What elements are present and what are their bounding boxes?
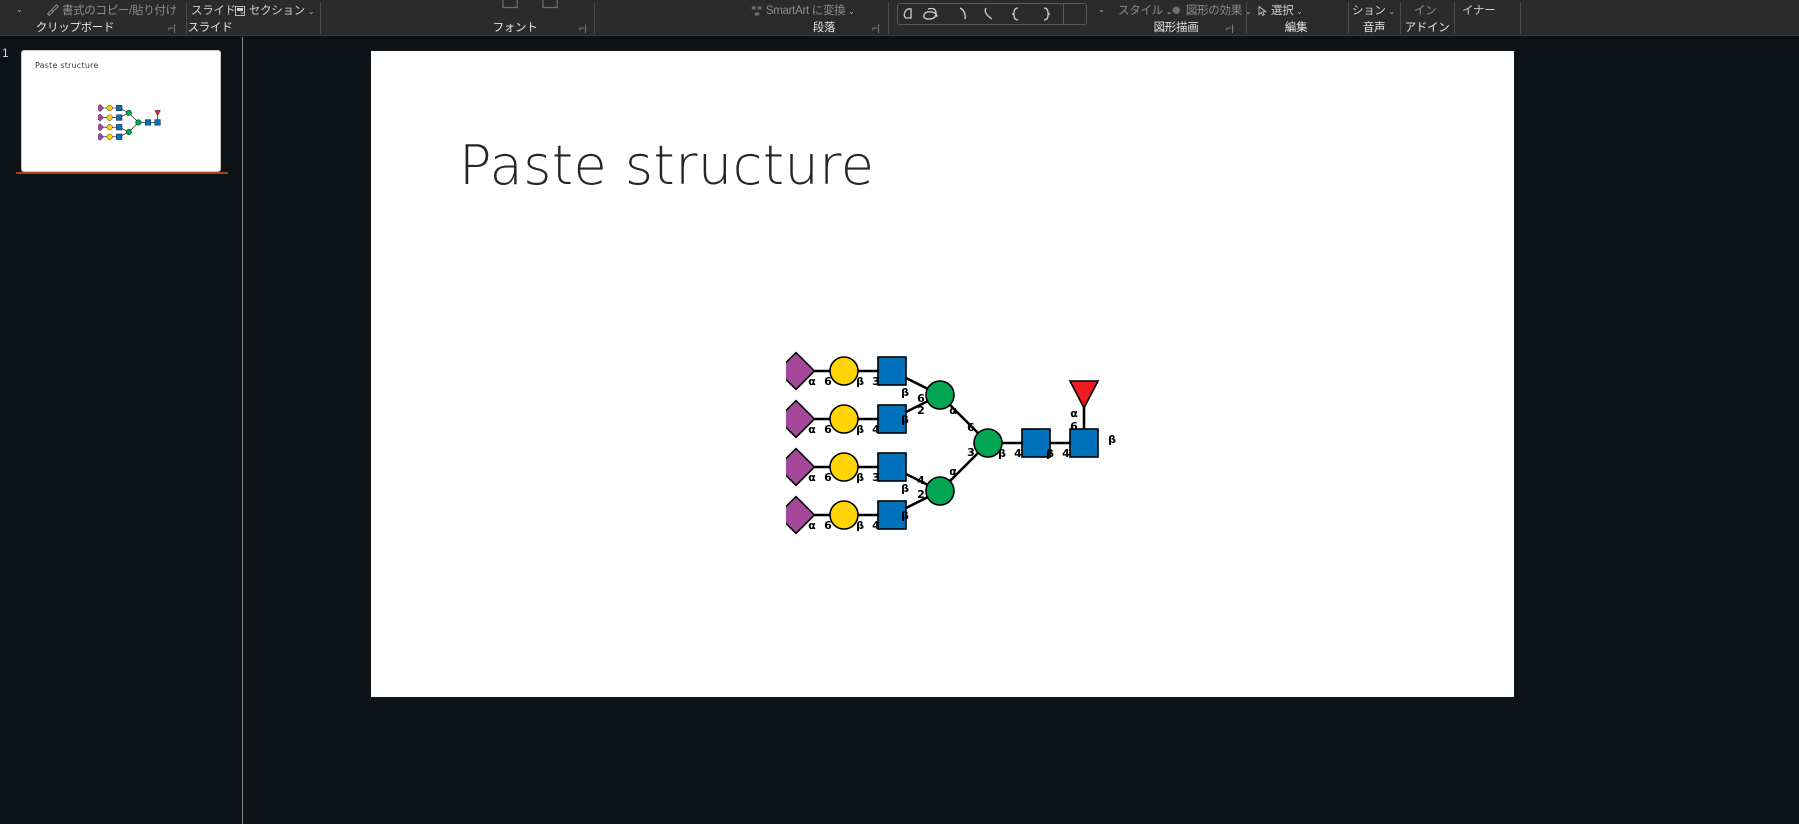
slide-thumbnail-1[interactable]: Paste structure xyxy=(21,50,221,172)
residue-fuc xyxy=(1070,381,1098,408)
ribbon: 書式のコピー/貼り付け ⌄ クリップボード ⌐| スライド ⌄ セクション ⌄ … xyxy=(0,0,1799,36)
ribbon-group-slides: スライド ⌄ セクション ⌄ スライド xyxy=(188,0,316,36)
chevron-down-icon: ⌄ xyxy=(1098,5,1104,14)
ribbon-separator-6 xyxy=(1348,2,1349,34)
slide-stage: Paste structure xyxy=(243,37,1799,718)
ribbon-group-label-editing: 編集 xyxy=(1248,19,1344,35)
svg-text:α: α xyxy=(808,423,816,436)
thumbnail-title-text: Paste structure xyxy=(35,61,98,70)
ribbon-group-voice: ション ⌄ 音声 xyxy=(1350,0,1398,36)
svg-text:β: β xyxy=(856,519,864,532)
ribbon-group-paragraph: SmartArt に変換 ⌄ 段落 ⌐| xyxy=(596,0,884,36)
addin-button[interactable]: イン xyxy=(1414,2,1436,18)
ribbon-group-designer: イナー xyxy=(1456,0,1516,36)
svg-text:6: 6 xyxy=(967,421,975,434)
page-title[interactable]: Paste structure xyxy=(459,134,874,197)
thumbnail-selection-underline xyxy=(16,172,228,174)
residue-gal xyxy=(830,501,858,529)
svg-text:6: 6 xyxy=(824,519,832,532)
clipboard-more-caret[interactable]: ⌄ xyxy=(16,3,22,15)
paragraph-dialog-launcher[interactable]: ⌐| xyxy=(872,23,880,33)
ribbon-group-label-clipboard: クリップボード xyxy=(0,19,166,35)
format-painter-button[interactable]: 書式のコピー/貼り付け xyxy=(46,2,177,18)
convert-to-smartart-label: SmartArt に変換 xyxy=(766,5,845,17)
residue-gal xyxy=(830,357,858,385)
residue-man xyxy=(926,477,954,505)
svg-text:β: β xyxy=(856,471,864,484)
shape-effects-label: 図形の効果 xyxy=(1186,5,1242,17)
svg-text:6: 6 xyxy=(824,423,832,436)
ribbon-group-label-addins: アドイン xyxy=(1402,19,1452,35)
highlight-icon xyxy=(540,0,562,12)
section-icon xyxy=(234,5,246,17)
bottom-pane-divider xyxy=(242,718,243,824)
ribbon-group-label-slides: スライド xyxy=(146,19,274,35)
residue-gal xyxy=(830,453,858,481)
svg-text:β: β xyxy=(901,386,909,399)
chevron-down-icon: ⌄ xyxy=(1296,7,1302,16)
dictate-label: ション xyxy=(1352,5,1386,17)
section-button[interactable]: セクション ⌄ xyxy=(234,2,314,18)
thumbnail-glycan-diagram xyxy=(98,99,166,147)
convert-to-smartart-button[interactable]: SmartArt に変換 ⌄ xyxy=(751,2,855,18)
dictate-button[interactable]: ション ⌄ xyxy=(1352,2,1395,18)
cursor-arrow-icon xyxy=(1256,5,1268,17)
svg-text:β: β xyxy=(1046,447,1054,460)
paintbrush-icon xyxy=(46,4,59,17)
designer-button[interactable]: イナー xyxy=(1462,2,1495,18)
svg-text:β: β xyxy=(901,509,909,522)
ribbon-group-editing: 選択 ⌄ 編集 xyxy=(1248,0,1344,36)
svg-text:α: α xyxy=(808,375,816,388)
svg-text:3: 3 xyxy=(967,446,975,459)
chevron-down-icon: ⌄ xyxy=(848,7,854,16)
ribbon-group-font: フォント ⌐| xyxy=(322,0,572,36)
designer-label: イナー xyxy=(1462,5,1495,17)
select-label: 選択 xyxy=(1271,5,1293,17)
shape-styles-label: スタイル xyxy=(1118,5,1163,17)
ribbon-separator-3 xyxy=(594,2,595,34)
shape-effects-icon xyxy=(1171,5,1183,17)
select-button[interactable]: 選択 ⌄ xyxy=(1256,2,1303,18)
ribbon-separator-4 xyxy=(888,2,889,34)
smartart-icon xyxy=(751,5,763,17)
ribbon-separator-5 xyxy=(1246,2,1247,34)
chevron-down-icon: ⌄ xyxy=(1389,7,1395,16)
chevron-down-icon: ⌄ xyxy=(16,5,22,14)
svg-text:β: β xyxy=(998,447,1006,460)
residue-glcnac xyxy=(1070,429,1098,457)
residue-gal xyxy=(830,405,858,433)
svg-text:3: 3 xyxy=(872,471,880,484)
bottom-area xyxy=(0,718,1799,824)
shape-styles-button[interactable]: スタイル ⌄ xyxy=(1118,2,1172,18)
slide-canvas[interactable]: Paste structure xyxy=(371,51,1514,697)
font-color-icon xyxy=(500,0,522,12)
glycan-structure-diagram[interactable]: α6 β3 α6 β4 α6 β3 α6 β4 β6 β2 β4 β2 α6 α… xyxy=(786,351,1126,541)
ribbon-separator-9 xyxy=(1520,2,1521,34)
residue-glcnac xyxy=(878,357,906,385)
svg-text:α: α xyxy=(949,404,957,417)
ribbon-separator-8 xyxy=(1454,2,1455,34)
ribbon-separator-7 xyxy=(1400,2,1401,34)
svg-text:β: β xyxy=(856,423,864,436)
format-painter-label: 書式のコピー/貼り付け xyxy=(62,5,177,17)
svg-text:6: 6 xyxy=(1070,420,1078,433)
svg-text:β: β xyxy=(901,482,909,495)
svg-text:β: β xyxy=(901,413,909,426)
residue-glcnac xyxy=(878,453,906,481)
svg-text:α: α xyxy=(808,519,816,532)
new-slide-label: スライド xyxy=(191,5,236,17)
section-label: セクション xyxy=(249,5,305,17)
chevron-down-icon: ⌄ xyxy=(308,7,314,16)
svg-text:6: 6 xyxy=(824,375,832,388)
svg-text:4: 4 xyxy=(1014,447,1022,460)
svg-text:α: α xyxy=(808,471,816,484)
ribbon-separator-2 xyxy=(320,2,321,34)
svg-text:4: 4 xyxy=(872,519,880,532)
svg-text:α: α xyxy=(949,465,957,478)
slide-thumbnail-pane: 1 Paste structure xyxy=(0,37,242,718)
svg-text:4: 4 xyxy=(872,423,880,436)
font-swatch-a[interactable] xyxy=(500,0,522,15)
slide-number: 1 xyxy=(2,46,9,60)
svg-text:4: 4 xyxy=(1062,447,1070,460)
ribbon-group-addins: イン アドイン xyxy=(1402,0,1452,36)
font-dialog-launcher[interactable]: ⌐| xyxy=(579,23,587,33)
ribbon-group-label-voice: 音声 xyxy=(1350,19,1398,35)
shape-effects-button[interactable]: 図形の効果 ⌄ xyxy=(1171,2,1251,18)
svg-text:3: 3 xyxy=(872,375,880,388)
svg-text:β: β xyxy=(1108,433,1116,446)
svg-text:α: α xyxy=(1070,407,1078,420)
shape-gallery-expand[interactable]: ⌄ xyxy=(1098,3,1104,15)
svg-text:2: 2 xyxy=(917,404,925,417)
svg-text:2: 2 xyxy=(917,488,925,501)
svg-text:β: β xyxy=(856,375,864,388)
addin-partial-label: イン xyxy=(1414,5,1436,17)
drawing-dialog-launcher[interactable]: ⌐| xyxy=(1226,23,1234,33)
font-swatch-b[interactable] xyxy=(540,0,562,15)
svg-text:4: 4 xyxy=(917,474,925,487)
svg-text:6: 6 xyxy=(824,471,832,484)
ribbon-group-drawing: ⌄ スタイル ⌄ 図形の効果 ⌄ 図形描画 ⌐| xyxy=(890,0,1242,36)
